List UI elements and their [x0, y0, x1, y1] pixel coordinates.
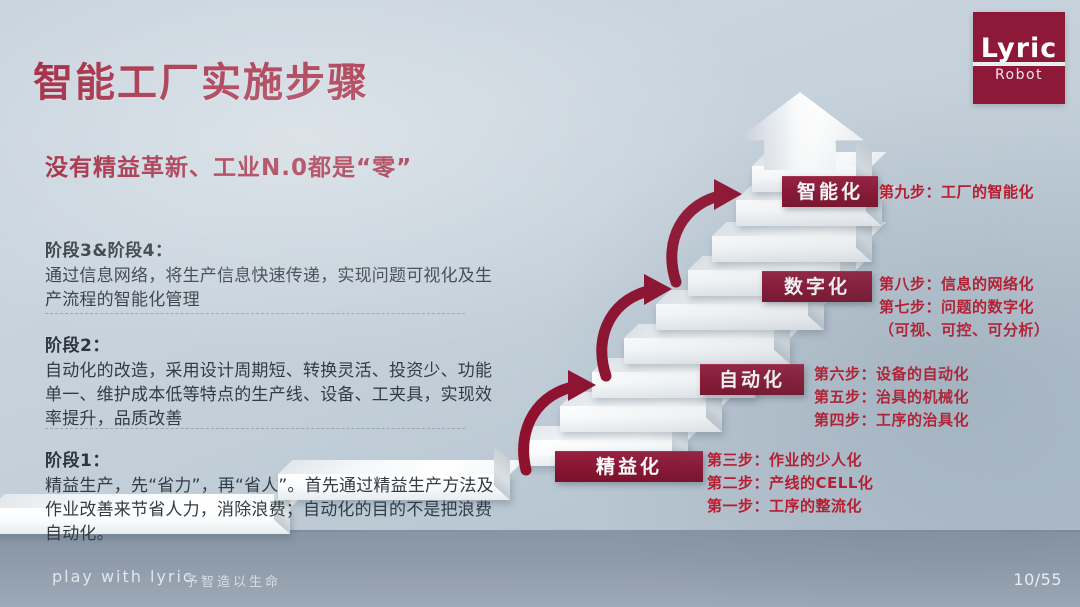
- badge-lean[interactable]: 精益化: [555, 451, 703, 482]
- note-group-intelligent: 第九步：工厂的智能化: [879, 181, 1034, 204]
- note-line: 第五步：治具的机械化: [814, 386, 969, 409]
- note-line: 第二步：产线的CELL化: [707, 472, 873, 495]
- logo-subtext: Robot: [973, 67, 1065, 83]
- note-line: 第三步：作业的少人化: [707, 449, 873, 472]
- page-subtitle: 没有精益革新、工业N.0都是“零”: [45, 148, 412, 182]
- page-title: 智能工厂实施步骤: [33, 50, 369, 108]
- stage-divider-2: [45, 428, 465, 429]
- stage-block-2: 阶段2： 自动化的改造，采用设计周期短、转换灵活、投资少、功能单一、维护成本低等…: [45, 331, 497, 431]
- stage-body: 自动化的改造，采用设计周期短、转换灵活、投资少、功能单一、维护成本低等特点的生产…: [45, 359, 497, 431]
- note-group-digital: 第八步：信息的网络化 第七步：问题的数字化 （可视、可控、可分析）: [879, 273, 1050, 341]
- stage-block-34: 阶段3&阶段4： 通过信息网络，将生产信息快速传递，实现问题可视化及生产流程的智…: [45, 236, 497, 312]
- logo-divider-bar: [973, 62, 1065, 66]
- badge-intelligent[interactable]: 智能化: [782, 176, 878, 207]
- logo-wordmark: Lyric: [983, 26, 1055, 62]
- stage-divider-1: [45, 313, 465, 314]
- badge-automation[interactable]: 自动化: [700, 364, 804, 395]
- stage-heading: 阶段2：: [45, 331, 497, 356]
- badge-digital[interactable]: 数字化: [762, 271, 872, 302]
- curved-arrow-3-icon: [660, 176, 778, 288]
- footer-slogan-en: play with lyric: [52, 567, 194, 586]
- slide-canvas: 智能化 数字化 自动化 精益化 第九步：工厂的智能化 第八步：信息的网络化 第七…: [0, 0, 1080, 607]
- note-line: 第六步：设备的自动化: [814, 363, 969, 386]
- lyric-robot-logo[interactable]: Lyric Robot: [973, 12, 1065, 104]
- note-line: 第七步：问题的数字化: [879, 296, 1050, 319]
- note-line: 第九步：工厂的智能化: [879, 181, 1034, 204]
- note-line: 第八步：信息的网络化: [879, 273, 1050, 296]
- footer-slogan-cn: 予智造以生命: [185, 571, 281, 590]
- stage-body: 精益生产，先“省力”，再“省人”。首先通过精益生产方法及作业改善来节省人力，消除…: [45, 474, 497, 546]
- page-number: 10/55: [1013, 570, 1062, 589]
- note-line: 第四步：工序的治具化: [814, 409, 969, 432]
- note-line: 第一步：工序的整流化: [707, 495, 873, 518]
- note-group-lean: 第三步：作业的少人化 第二步：产线的CELL化 第一步：工序的整流化: [707, 449, 873, 517]
- stage-heading: 阶段1：: [45, 446, 497, 471]
- note-group-automation: 第六步：设备的自动化 第五步：治具的机械化 第四步：工序的治具化: [814, 363, 969, 431]
- note-line: （可视、可控、可分析）: [879, 319, 1050, 342]
- stage-heading: 阶段3&阶段4：: [45, 236, 497, 261]
- stage-block-1: 阶段1： 精益生产，先“省力”，再“省人”。首先通过精益生产方法及作业改善来节省…: [45, 446, 497, 546]
- stage-body: 通过信息网络，将生产信息快速传递，实现问题可视化及生产流程的智能化管理: [45, 264, 497, 312]
